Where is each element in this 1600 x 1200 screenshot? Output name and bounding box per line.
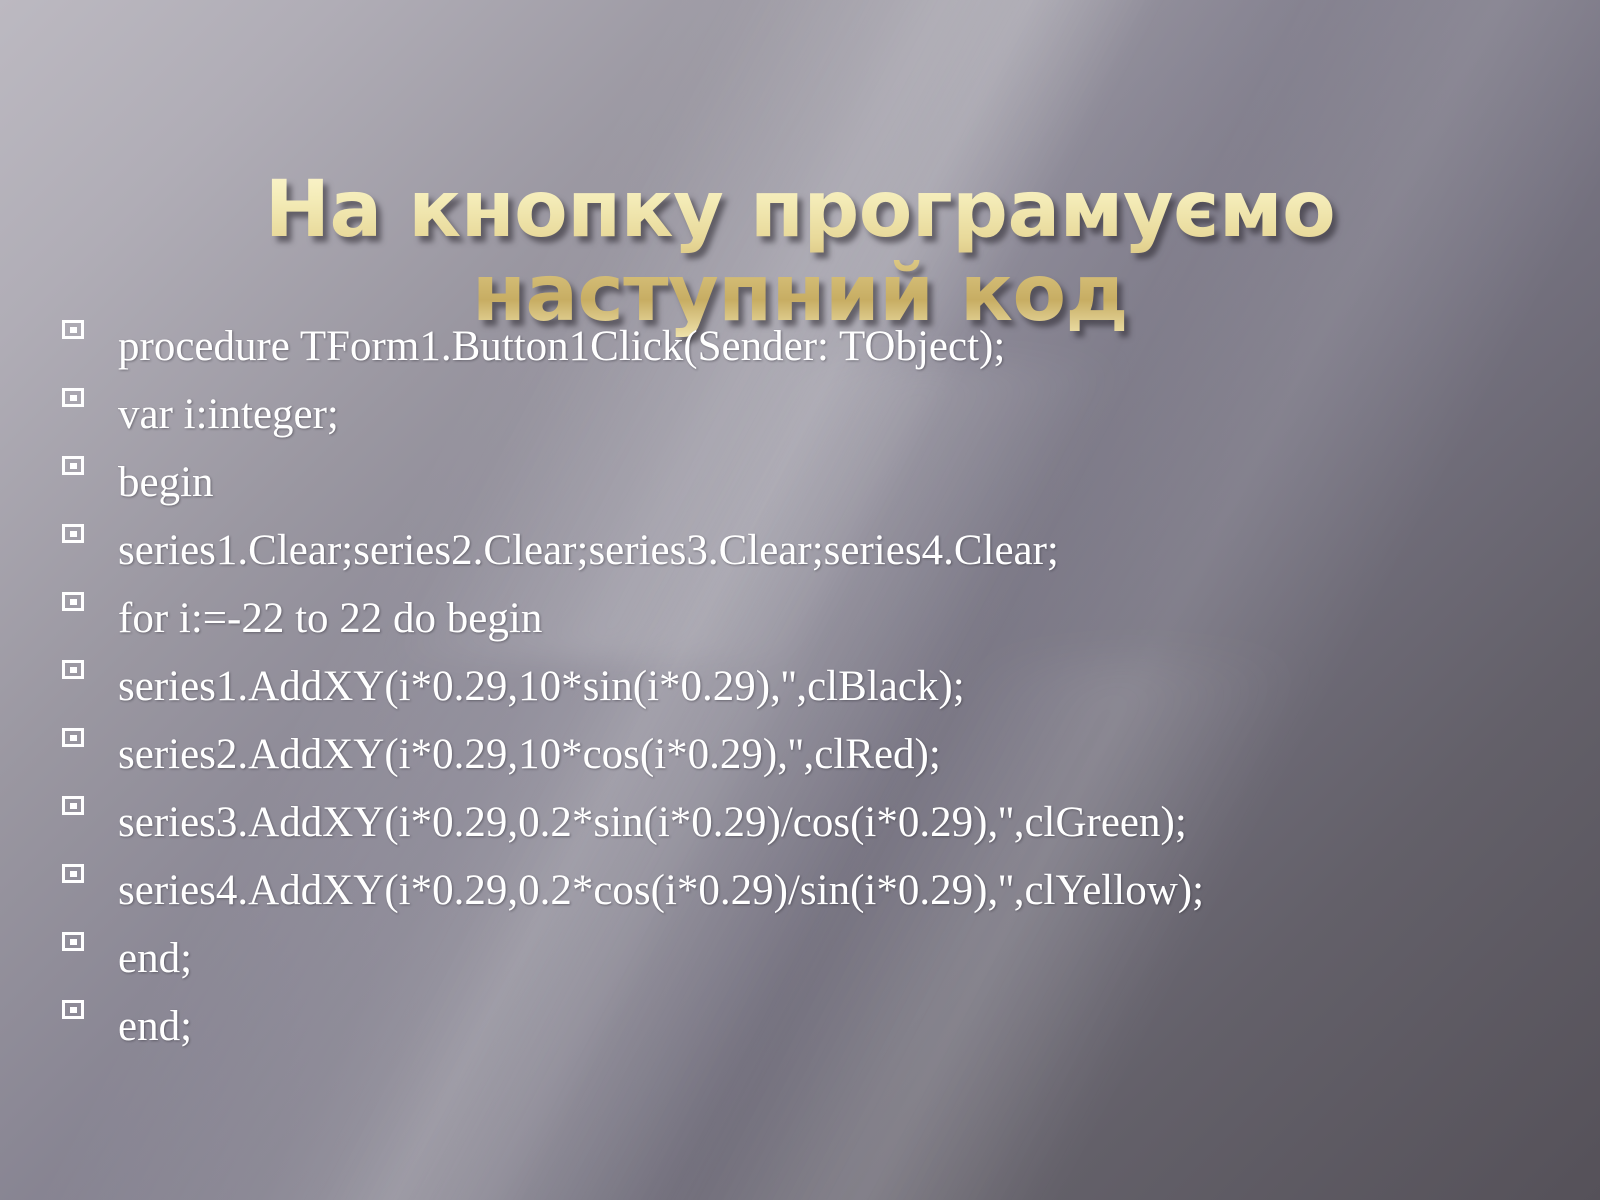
framed-square-bullet-icon [44,564,118,632]
code-line-text: series1.AddXY(i*0.29,10*sin(i*0.29),'',c… [118,653,1584,721]
framed-square-bullet-icon [44,768,118,836]
code-line-text: series3.AddXY(i*0.29,0.2*sin(i*0.29)/cos… [118,789,1584,857]
list-item: procedure TForm1.Button1Click(Sender: TO… [44,292,1584,360]
framed-square-bullet-icon [44,972,118,1040]
framed-square-bullet-icon [44,836,118,904]
framed-square-bullet-icon [44,292,118,360]
slide-canvas: На кнопку програмуємо наступний код proc… [0,0,1600,1200]
code-line-text: var i:integer; [118,381,1584,449]
code-line-text: series4.AddXY(i*0.29,0.2*cos(i*0.29)/sin… [118,857,1584,925]
framed-square-bullet-icon [44,700,118,768]
code-line-text: series2.AddXY(i*0.29,10*cos(i*0.29),'',c… [118,721,1584,789]
framed-square-bullet-icon [44,360,118,428]
code-line-text: end; [118,925,1584,993]
code-bullet-list: procedure TForm1.Button1Click(Sender: TO… [44,292,1584,1040]
framed-square-bullet-icon [44,428,118,496]
code-line-text: series1.Clear;series2.Clear;series3.Clea… [118,517,1584,585]
framed-square-bullet-icon [44,632,118,700]
code-line-text: end; [118,993,1584,1061]
code-line-text: procedure TForm1.Button1Click(Sender: TO… [118,313,1584,381]
framed-square-bullet-icon [44,904,118,972]
code-line-text: for i:=-22 to 22 do begin [118,585,1584,653]
code-line-text: begin [118,449,1584,517]
framed-square-bullet-icon [44,496,118,564]
